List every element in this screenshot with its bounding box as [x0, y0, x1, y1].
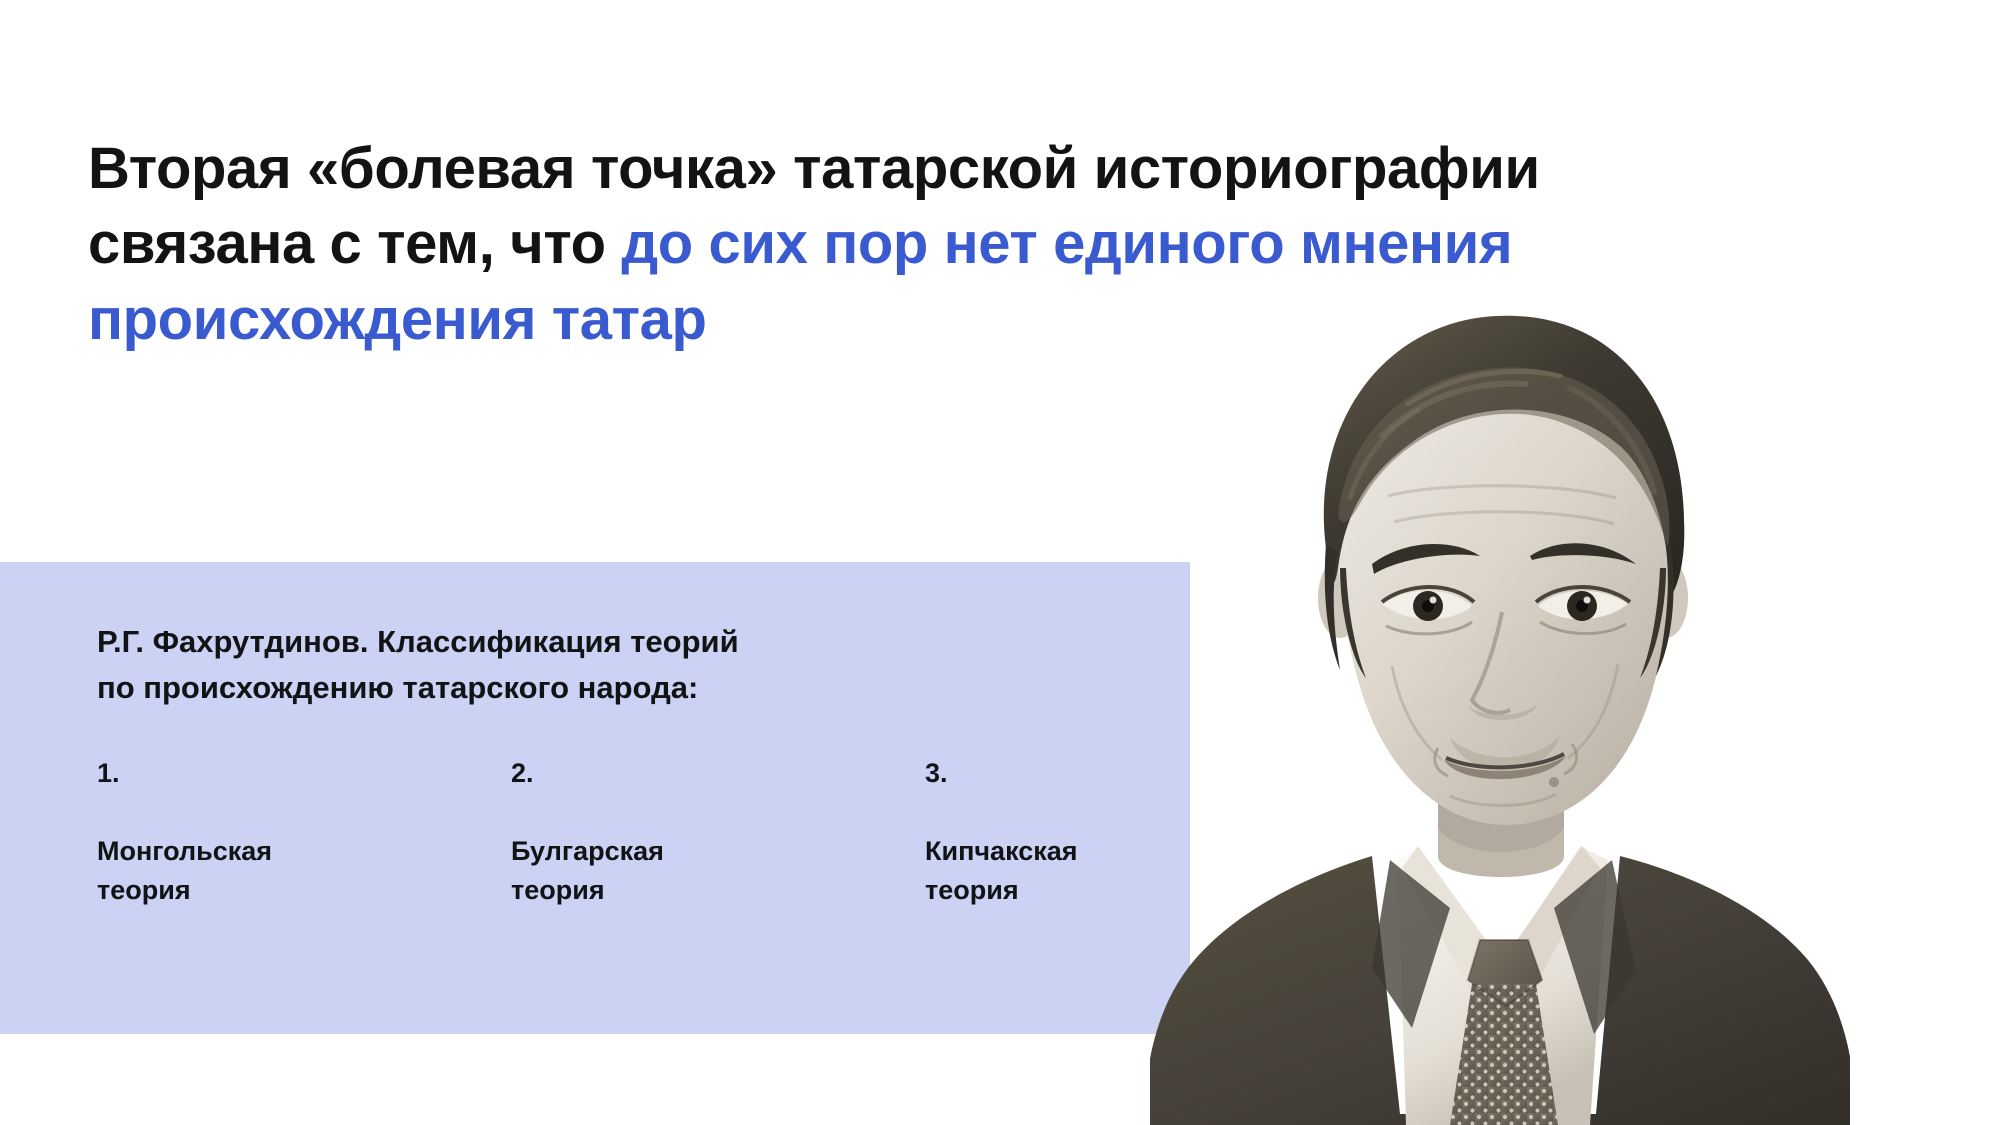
portrait-illustration — [1150, 268, 1850, 1125]
theory-label-2: Булгарская теория — [511, 832, 811, 910]
face — [1324, 308, 1710, 828]
theory-label-1: Монгольская теория — [97, 832, 397, 910]
theory-number-1: 1. — [97, 760, 511, 787]
headline-line-2-text: связана с тем, что — [88, 211, 621, 276]
headline-line-1-text: Вторая «болевая точка» татарской историо… — [88, 136, 1540, 201]
theory-label-2-line-1: Булгарская — [511, 836, 664, 866]
headline-line-2-accent: до сих пор нет единого мнения — [621, 211, 1512, 276]
mole — [1549, 777, 1559, 787]
headline-line-3-accent: происхождения татар — [88, 287, 707, 352]
theory-label-2-line-2: теория — [511, 875, 605, 905]
theory-label-1-line-2: теория — [97, 875, 191, 905]
panel-title-line-2: по происхождению татарского народа: — [97, 665, 1097, 711]
theory-label-3-line-1: Кипчакская — [925, 836, 1078, 866]
theory-number-2: 2. — [511, 760, 925, 787]
theory-label-3-line-2: теория — [925, 875, 1019, 905]
theory-label-1-line-1: Монгольская — [97, 836, 272, 866]
theory-column-2: 2. Булгарская теория — [511, 760, 925, 910]
theory-column-1: 1. Монгольская теория — [97, 760, 511, 910]
headline-line-3: происхождения татар — [88, 282, 1708, 357]
slide-canvas: Вторая «болевая точка» татарской историо… — [0, 0, 2000, 1125]
portrait-photo — [1150, 268, 1850, 1125]
theory-number-3: 3. — [925, 760, 1078, 787]
panel-title-line-1: Р.Г. Фахрутдинов. Классификация теорий — [97, 619, 1097, 665]
theory-columns: 1. Монгольская теория 2. Булгарская теор… — [97, 760, 1157, 910]
page-title: Вторая «болевая точка» татарской историо… — [88, 131, 1708, 357]
headline-line-2: связана с тем, что до сих пор нет единог… — [88, 206, 1708, 281]
panel-title: Р.Г. Фахрутдинов. Классификация теорий п… — [97, 619, 1097, 711]
theory-label-3: Кипчакская теория — [925, 832, 1078, 910]
theory-column-3: 3. Кипчакская теория — [925, 760, 1078, 910]
headline-line-1: Вторая «болевая точка» татарской историо… — [88, 131, 1708, 206]
